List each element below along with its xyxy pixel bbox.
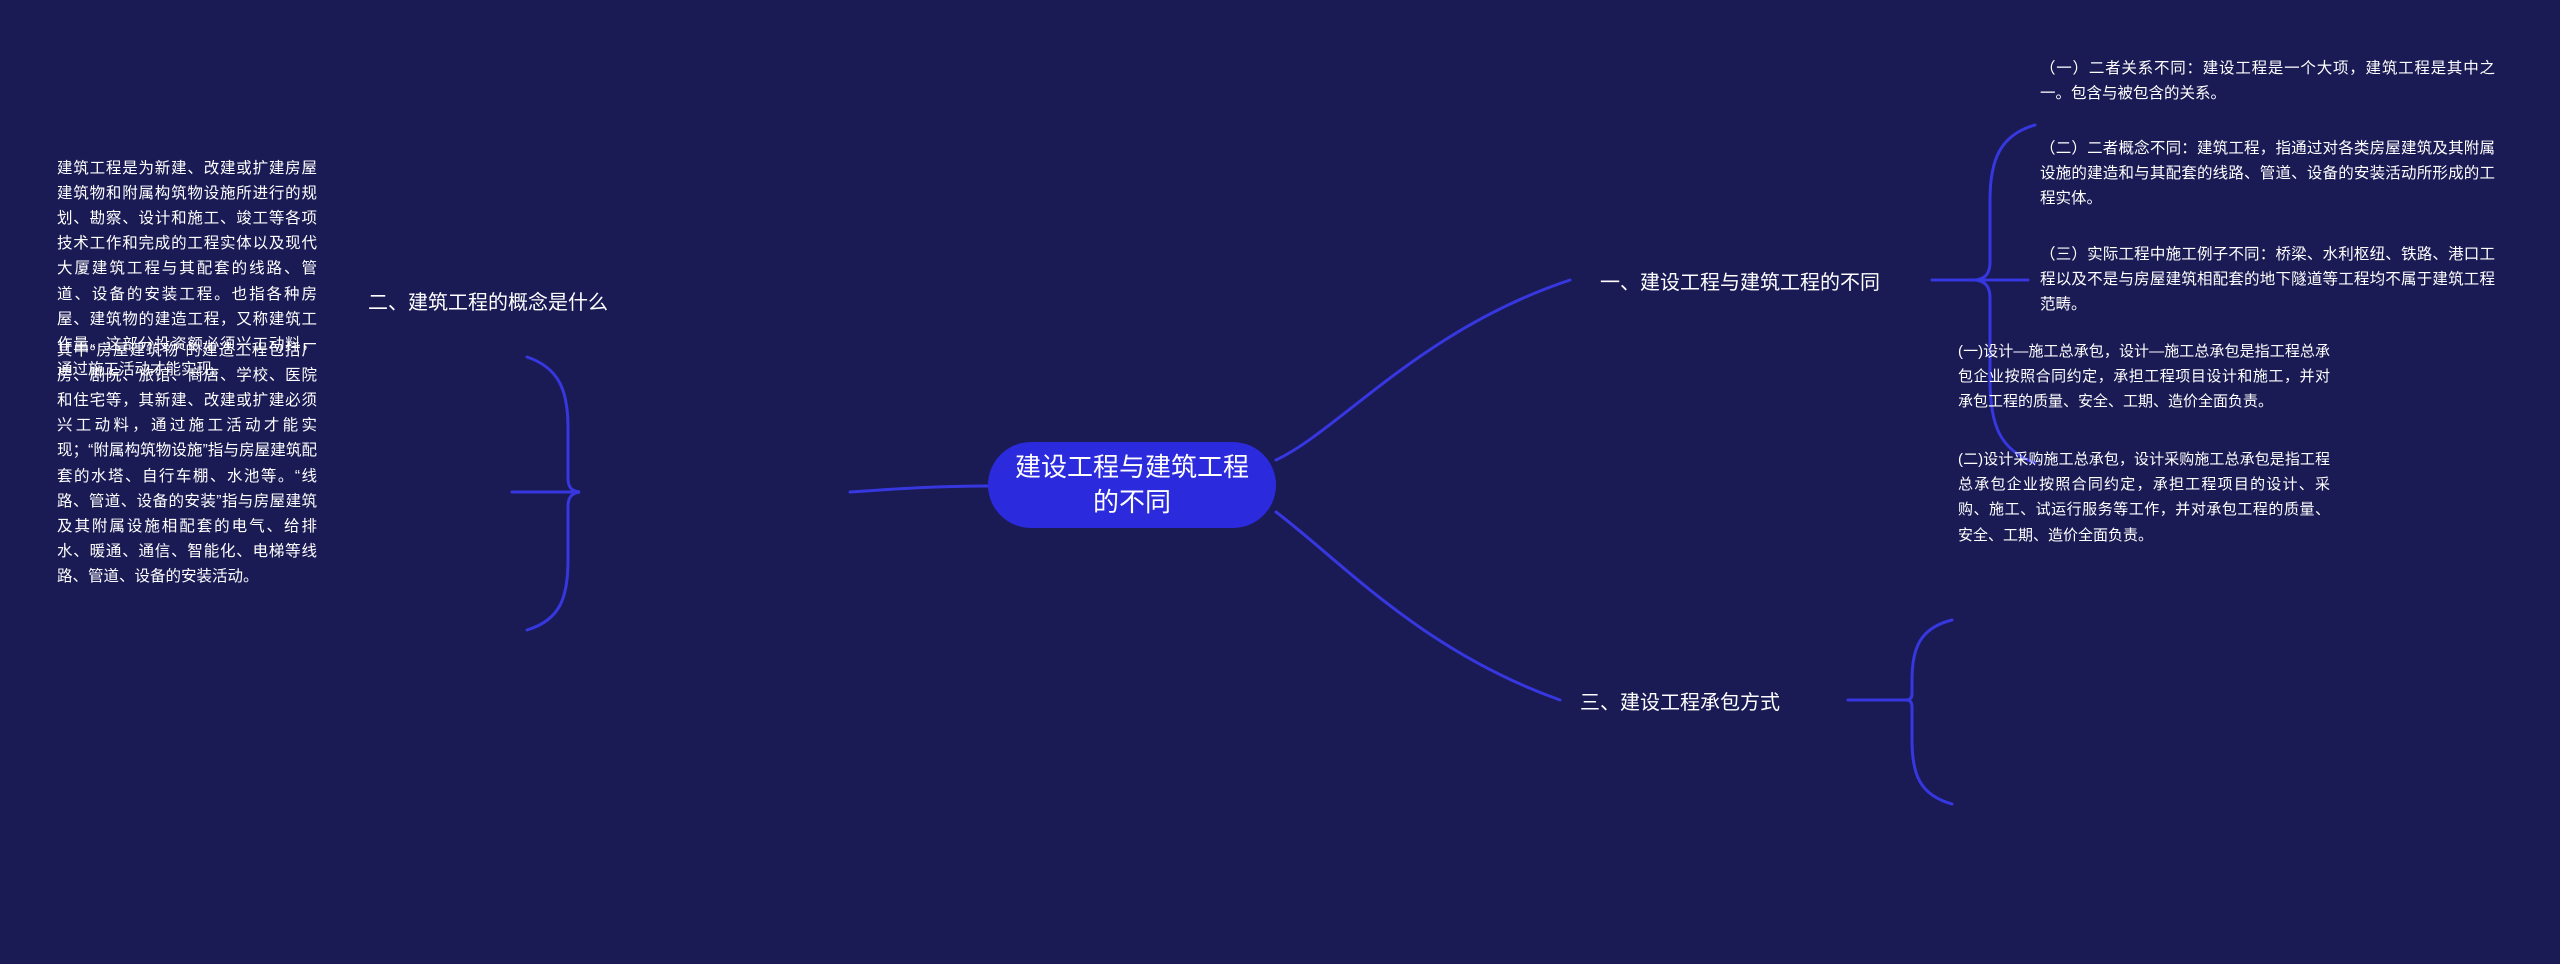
branch-1-item-2-text[interactable]: （二）二者概念不同：建筑工程，指通过对各类房屋建筑及其附属设施的建造和与其配套的… (2040, 136, 2495, 211)
mindmap-canvas: 建设工程与建筑工程的不同 一、建设工程与建筑工程的不同 （一）二者关系不同：建设… (0, 0, 2560, 964)
branch-1-item-3-text[interactable]: （三）实际工程中施工例子不同：桥梁、水利枢纽、铁路、港口工程以及不是与房屋建筑相… (2040, 242, 2495, 317)
root-node[interactable]: 建设工程与建筑工程的不同 (988, 442, 1276, 528)
branch-2-item-2-text[interactable]: 其中“房屋建筑物”的建造工程包括厂房、剧院、旅馆、商店、学校、医院和住宅等，其新… (57, 338, 317, 589)
bracket-branch-2 (527, 357, 580, 630)
branch-label-3[interactable]: 三、建设工程承包方式 (1580, 686, 1780, 715)
bracket-branch-3 (1906, 620, 1952, 804)
branch-label-2[interactable]: 二、建筑工程的概念是什么 (368, 286, 608, 315)
branch-3-item-2-text[interactable]: (二)设计采购施工总承包，设计采购施工总承包是指工程总承包企业按照合同约定，承担… (1958, 447, 2330, 548)
link-root-branch-2 (850, 486, 988, 492)
branch-1-item-1-text[interactable]: （一）二者关系不同：建设工程是一个大项，建筑工程是其中之一。包含与被包含的关系。 (2040, 56, 2495, 106)
root-node-label: 建设工程与建筑工程的不同 (1010, 450, 1254, 520)
branch-label-1[interactable]: 一、建设工程与建筑工程的不同 (1600, 266, 1880, 295)
branch-3-item-1-text[interactable]: (一)设计—施工总承包，设计—施工总承包是指工程总承包企业按照合同约定，承担工程… (1958, 339, 2330, 415)
link-root-branch-3 (1276, 512, 1560, 700)
link-root-branch-1 (1276, 280, 1570, 460)
